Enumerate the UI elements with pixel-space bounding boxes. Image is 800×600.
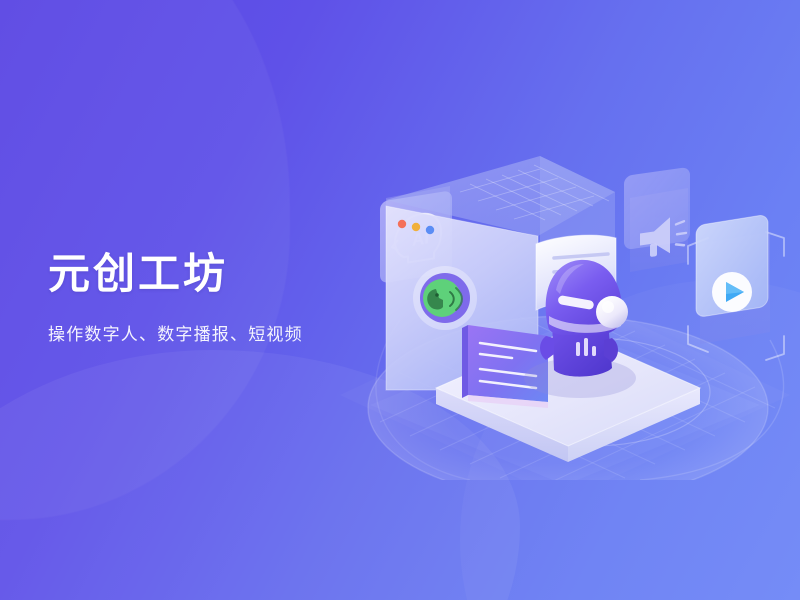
hero-illustration: AI	[340, 140, 800, 480]
dot-red-icon	[398, 220, 406, 228]
page-title: 元创工坊	[48, 250, 303, 298]
dot-yellow-icon	[412, 223, 420, 231]
hero-banner: 元创工坊 操作数字人、数字播报、短视频	[0, 0, 800, 600]
hero-copy: 元创工坊 操作数字人、数字播报、短视频	[48, 250, 303, 345]
robot-earphone-icon	[596, 296, 628, 328]
green-talking-head-icon	[413, 266, 477, 330]
dot-blue-icon	[426, 226, 434, 234]
play-button-icon	[712, 272, 752, 312]
page-subtitle: 操作数字人、数字播报、短视频	[48, 320, 303, 345]
megaphone-card	[624, 167, 690, 272]
video-card	[688, 214, 784, 360]
